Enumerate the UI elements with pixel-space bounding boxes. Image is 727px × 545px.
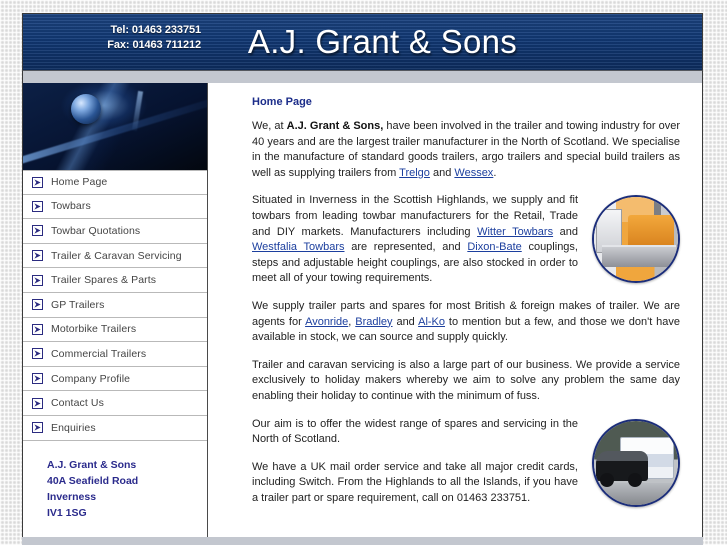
sidebar: Home Page Towbars Towbar Quotations Trai… (23, 83, 208, 543)
sidebar-item-motorbike-trailers[interactable]: Motorbike Trailers (23, 318, 207, 343)
photo-shaft-shape (78, 117, 92, 170)
photo-wheel-shape (600, 473, 614, 487)
trailer-with-digger-photo (592, 195, 680, 283)
footer-bar (22, 537, 703, 545)
link-al-ko[interactable]: Al-Ko (418, 316, 445, 328)
towbars-text-3: are represented, and (345, 241, 468, 253)
page-container: Tel: 01463 233751 Fax: 01463 711212 A.J.… (22, 13, 703, 545)
site-header: Tel: 01463 233751 Fax: 01463 711212 A.J.… (22, 13, 703, 70)
sidebar-item-towbar-quotations[interactable]: Towbar Quotations (23, 219, 207, 244)
car-towing-caravan-photo (592, 419, 680, 507)
servicing-paragraph: Trailer and caravan servicing is also a … (252, 358, 680, 405)
header-divider (22, 70, 703, 83)
main-content: Home Page We, at A.J. Grant & Sons, have… (209, 83, 702, 543)
address-line-postcode: IV1 1SG (47, 505, 207, 521)
sidebar-item-label: Company Profile (51, 373, 130, 385)
arrow-box-icon (32, 250, 43, 261)
sidebar-item-enquiries[interactable]: Enquiries (23, 416, 207, 441)
towbars-text-2: and (553, 226, 578, 238)
sidebar-item-label: Trailer Spares & Parts (51, 274, 156, 286)
sidebar-item-label: Enquiries (51, 422, 96, 434)
sidebar-item-company-profile[interactable]: Company Profile (23, 367, 207, 392)
intro-text-3: and (430, 167, 454, 179)
link-avonride[interactable]: Avonride (305, 316, 348, 328)
spares-paragraph: We supply trailer parts and spares for m… (252, 299, 680, 346)
sidebar-item-label: Contact Us (51, 397, 104, 409)
sidebar-item-commercial-trailers[interactable]: Commercial Trailers (23, 342, 207, 367)
sidebar-item-label: Towbars (51, 200, 91, 212)
arrow-box-icon (32, 201, 43, 212)
arrow-box-icon (32, 299, 43, 310)
sidebar-item-towbars[interactable]: Towbars (23, 195, 207, 220)
photo-digger-shape (628, 215, 674, 249)
photo-ball-shape (71, 94, 101, 124)
sidebar-item-label: GP Trailers (51, 299, 104, 311)
sidebar-item-label: Motorbike Trailers (51, 323, 136, 335)
company-name-bold: A.J. Grant & Sons, (287, 120, 384, 132)
link-trelgo[interactable]: Trelgo (399, 167, 430, 179)
address-line-company: A.J. Grant & Sons (47, 457, 207, 473)
sidebar-item-trailer-caravan-servicing[interactable]: Trailer & Caravan Servicing (23, 244, 207, 269)
address-line-city: Inverness (47, 489, 207, 505)
arrow-box-icon (32, 422, 43, 433)
sidebar-item-gp-trailers[interactable]: GP Trailers (23, 293, 207, 318)
photo-wheel-shape (628, 473, 642, 487)
arrow-box-icon (32, 177, 43, 188)
page-title: Home Page (252, 96, 680, 108)
sidebar-item-trailer-spares-parts[interactable]: Trailer Spares & Parts (23, 268, 207, 293)
link-wessex[interactable]: Wessex (454, 167, 493, 179)
link-bradley[interactable]: Bradley (355, 316, 392, 328)
spares-text-3: and (393, 316, 419, 328)
site-title: A.J. Grant & Sons (23, 23, 702, 61)
sidebar-address: A.J. Grant & Sons 40A Seafield Road Inve… (23, 441, 207, 521)
link-witter-towbars[interactable]: Witter Towbars (477, 226, 553, 238)
arrow-box-icon (32, 398, 43, 409)
photo-gradient (23, 83, 207, 170)
arrow-box-icon (32, 225, 43, 236)
arrow-box-icon (32, 324, 43, 335)
link-dixon-bate[interactable]: Dixon-Bate (467, 241, 521, 253)
sidebar-item-label: Home Page (51, 176, 107, 188)
arrow-box-icon (32, 373, 43, 384)
photo-bed-shape (602, 245, 676, 267)
intro-text-1: We, at (252, 120, 287, 132)
intro-paragraph: We, at A.J. Grant & Sons, have been invo… (252, 119, 680, 181)
address-line-street: 40A Seafield Road (47, 473, 207, 489)
intro-text-4: . (493, 167, 496, 179)
arrow-box-icon (32, 348, 43, 359)
body-wrapper: Home Page Towbars Towbar Quotations Trai… (22, 83, 703, 544)
link-westfalia-towbars[interactable]: Westfalia Towbars (252, 241, 345, 253)
sidebar-item-home-page[interactable]: Home Page (23, 170, 207, 195)
sidebar-item-label: Trailer & Caravan Servicing (51, 250, 182, 262)
sidebar-nav: Home Page Towbars Towbar Quotations Trai… (23, 170, 207, 441)
sidebar-item-label: Commercial Trailers (51, 348, 146, 360)
sidebar-item-contact-us[interactable]: Contact Us (23, 391, 207, 416)
arrow-box-icon (32, 275, 43, 286)
towball-photo (23, 83, 207, 170)
sidebar-item-label: Towbar Quotations (51, 225, 140, 237)
